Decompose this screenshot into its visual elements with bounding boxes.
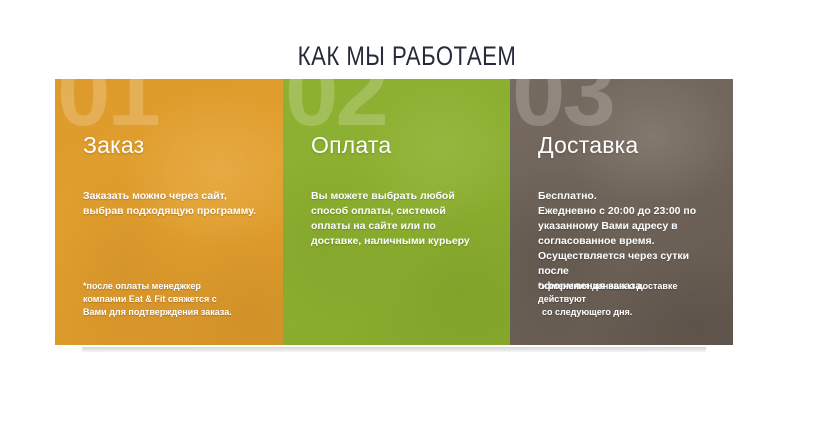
card-text-line: Бесплатно. [538,189,711,204]
step-card-payment[interactable]: 02 Оплата Вы можете выбрать любой способ… [283,79,510,345]
card-content-payment: Оплата Вы можете выбрать любой способ оп… [311,79,496,345]
card-note-line: *после оплаты менеджкер [83,280,265,293]
card-title-payment: Оплата [311,132,391,158]
card-text-line: Заказать можно через сайт, [83,189,261,204]
card-note-line: компании Eat & Fit свяжется с [83,293,265,306]
card-title-delivery: Доставка [538,132,638,158]
step-card-delivery[interactable]: 03 Доставка Бесплатно. Ежедневно с 20:00… [510,79,733,345]
card-text-line: Ежедневно с 20:00 до 23:00 по [538,204,711,219]
card-note-order: *после оплаты менеджкер компании Eat & F… [83,280,265,319]
card-text-line: Осуществляется через сутки после [538,249,711,279]
card-content-delivery: Доставка Бесплатно. Ежедневно с 20:00 до… [538,79,719,345]
page-title: КАК МЫ РАБОТАЕМ [73,40,740,72]
card-text-line: оплаты на сайте или по [311,219,488,234]
card-note-delivery: *изменения данных о доставке действуют с… [538,280,715,319]
card-text-line: доставке, наличными курьеру [311,234,488,249]
card-title-order: Заказ [83,132,144,158]
card-note-line: со следующего дня. [538,306,715,319]
step-card-order[interactable]: 01 Заказ Заказать можно через сайт, выбр… [55,79,283,345]
card-text-line: согласованное время. [538,234,711,249]
card-content-order: Заказ Заказать можно через сайт, выбрав … [83,79,269,345]
steps-cards-strip: 01 Заказ Заказать можно через сайт, выбр… [55,79,733,345]
card-text-payment: Вы можете выбрать любой способ оплаты, с… [311,189,488,249]
card-text-delivery: Бесплатно. Ежедневно с 20:00 до 23:00 по… [538,189,711,294]
cards-bottom-shadow [82,347,706,352]
card-text-line: указанному Вами адресу в [538,219,711,234]
card-text-order: Заказать можно через сайт, выбрав подход… [83,189,261,219]
card-text-line: Вы можете выбрать любой [311,189,488,204]
card-note-line: *изменения данных о доставке действуют [538,280,715,306]
card-text-line: выбрав подходящую программу. [83,204,261,219]
card-text-line: способ оплаты, системой [311,204,488,219]
card-note-line: Вами для подтверждения заказа. [83,306,265,319]
